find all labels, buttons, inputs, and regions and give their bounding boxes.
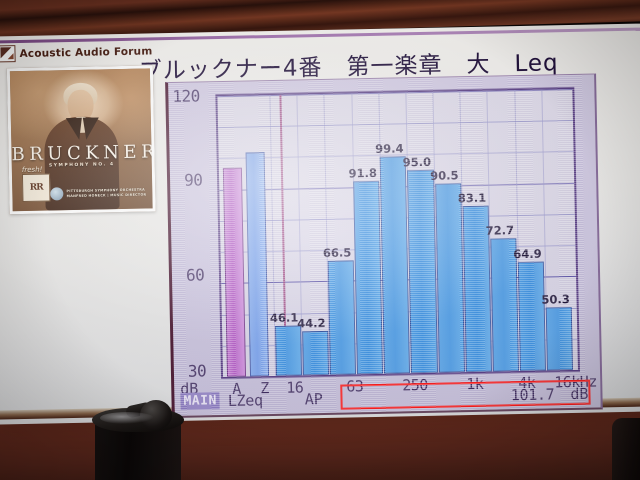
y-tick-120: 120 — [172, 86, 200, 106]
bar-band-31.5 — [302, 331, 329, 376]
bar-value-label-63: 66.5 — [323, 245, 352, 260]
slide-content: Acoustic Audio Forum ブルックナー4番 第一楽章 大 Leq… — [0, 23, 640, 424]
album-photo: BRUCKNER SYMPHONY NO. 4 fresh! RR PITTSB… — [10, 68, 153, 211]
bar-band-16k — [546, 307, 573, 371]
bar-band-16 — [275, 325, 302, 376]
orchestra-credit-text: PITTSBURGH SYMPHONY ORCHESTRA MANFRED HO… — [66, 187, 146, 198]
bar-value-label-16k: 50.3 — [541, 292, 570, 307]
gridline-110 — [218, 120, 573, 128]
orchestra-line-2: MANFRED HONECK | MUSIC DIRECTOR — [67, 192, 147, 198]
status-measurement-mode[interactable]: LZeq — [228, 391, 263, 410]
bar-value-label-1k: 90.5 — [430, 168, 459, 183]
forum-logo: Acoustic Audio Forum — [0, 42, 153, 62]
bar-value-label-31.5: 44.2 — [297, 316, 326, 331]
bar-band-8k — [518, 262, 546, 371]
bar-band-63 — [328, 260, 356, 374]
status-channel-label: AP — [305, 390, 323, 408]
gridline-120 — [217, 89, 572, 97]
status-badge-main[interactable]: MAIN — [180, 392, 220, 410]
album-record-label-logo: RR — [22, 173, 51, 202]
album-figure-collar-right — [83, 117, 99, 139]
y-tick-90: 90 — [184, 170, 203, 189]
bar-value-label-250: 99.4 — [375, 142, 404, 157]
bar-value-label-8k: 64.9 — [513, 247, 542, 262]
orchestra-logo-icon — [50, 187, 63, 200]
triangle-logo-icon — [0, 45, 16, 62]
bar-value-label-2k: 83.1 — [458, 191, 487, 206]
foreground-object-right — [612, 418, 640, 480]
bar-value-label-16: 46.1 — [270, 310, 299, 325]
red-highlight-annotation — [340, 380, 590, 410]
album-figure-collar-left — [66, 118, 82, 140]
bar-overall-A — [223, 167, 246, 377]
bar-value-label-500: 95.0 — [403, 155, 432, 170]
spectrum-plot-area: 46.144.266.591.899.495.090.583.172.764.9… — [215, 87, 580, 379]
album-cover-image: BRUCKNER SYMPHONY NO. 4 fresh! RR PITTSB… — [7, 65, 156, 214]
bar-band-250 — [380, 157, 411, 374]
y-tick-30: 30 — [188, 361, 207, 380]
bar-value-label-4k: 72.7 — [485, 223, 514, 238]
bar-band-1k — [435, 183, 465, 372]
bar-band-125 — [353, 181, 383, 374]
sound-level-analyzer-display: 120 90 60 30 dB 46.144.266.591.899.495.0… — [165, 73, 603, 418]
foreground-device-highlight — [100, 412, 154, 424]
y-tick-60: 60 — [186, 265, 205, 284]
forum-logo-text: Acoustic Audio Forum — [19, 45, 152, 60]
bar-band-500 — [407, 170, 437, 373]
photo-of-projected-slide: Acoustic Audio Forum ブルックナー4番 第一楽章 大 Leq… — [0, 0, 640, 480]
bar-overall-Z — [246, 152, 269, 376]
bar-value-label-125: 91.8 — [348, 166, 377, 181]
album-orchestra-credit: PITTSBURGH SYMPHONY ORCHESTRA MANFRED HO… — [50, 186, 146, 201]
